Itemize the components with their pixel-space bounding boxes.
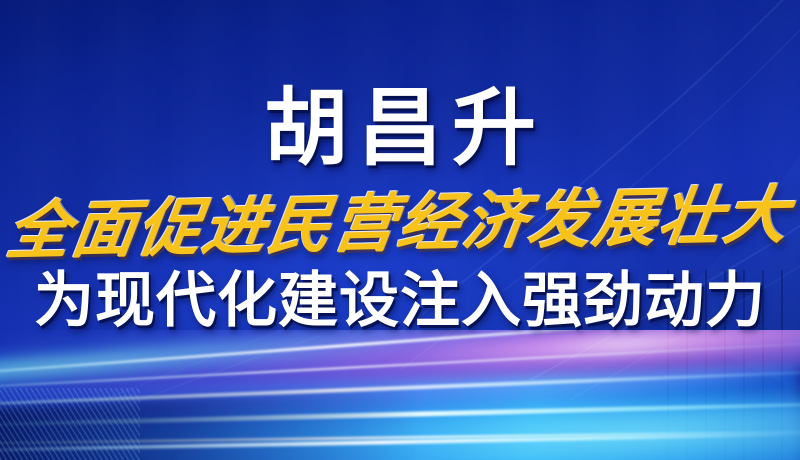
wave-base-cyan-glow — [0, 395, 800, 460]
wave-magenta-bloom — [0, 330, 800, 444]
wave-green-streak — [0, 330, 544, 400]
headline-block: 胡昌升 全面促进民营经济发展壮大 为现代化建设注入强劲动力 — [0, 0, 800, 331]
wave-streak-5 — [0, 429, 800, 446]
wave-streak-2 — [0, 337, 800, 393]
wave-streak-4 — [0, 399, 800, 429]
wave-bottom-arc — [0, 431, 800, 453]
wave-base-glow — [0, 365, 800, 460]
wave-streak-3 — [0, 366, 800, 409]
wave-streak-1 — [0, 330, 800, 380]
calligraphy-headline: 全面促进民营经济发展壮大 — [0, 162, 800, 264]
wave-dark-wedge — [0, 385, 418, 460]
diagonal-hatch-corner — [0, 388, 140, 460]
slogan-headline: 为现代化建设注入强劲动力 — [0, 255, 800, 331]
person-name-title: 胡昌升 — [0, 0, 800, 170]
banner-root: 胡昌升 全面促进民营经济发展壮大 为现代化建设注入强劲动力 — [0, 0, 800, 460]
light-wave-band — [0, 330, 800, 460]
